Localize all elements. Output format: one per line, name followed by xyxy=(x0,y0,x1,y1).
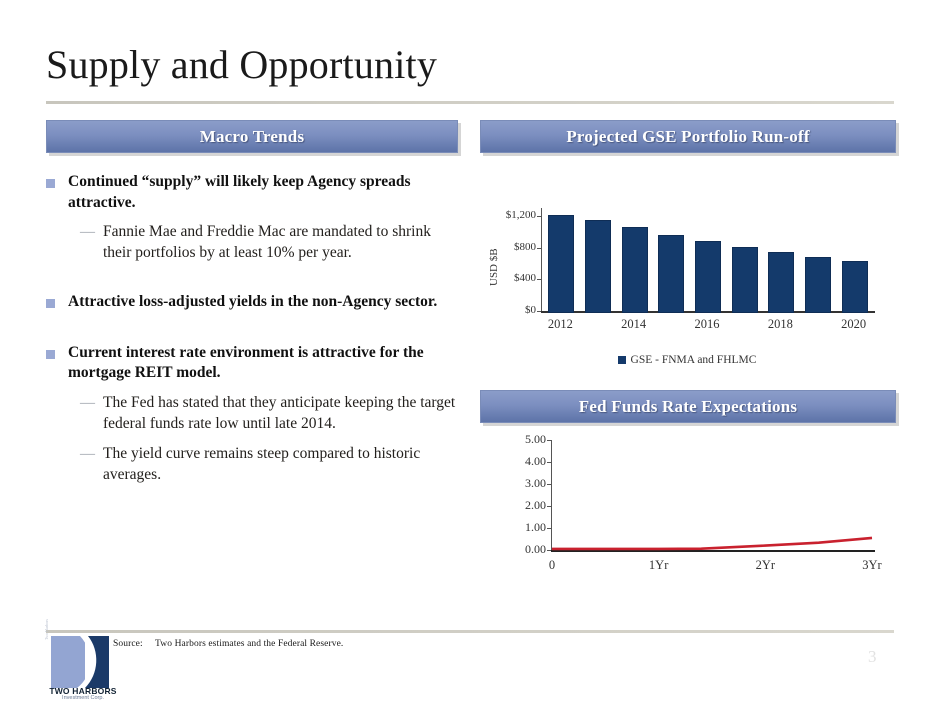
page-title: Supply and Opportunity xyxy=(46,44,437,86)
bar-chart-x-tick-label: 2012 xyxy=(535,317,585,332)
logo-subtitle: Investment Corp. xyxy=(47,695,119,701)
line-chart-y-tick-label: 5.00 xyxy=(504,432,546,447)
sub-bullet-item: — The yield curve remains steep compared… xyxy=(80,444,466,486)
bar-chart-y-axis-line xyxy=(541,208,542,311)
line-chart-y-tick-label: 3.00 xyxy=(504,476,546,491)
line-chart-x-tick-label: 0 xyxy=(527,558,577,573)
sub-bullet-text: The Fed has stated that they anticipate … xyxy=(103,393,463,435)
bar-chart-legend: GSE - FNMA and FHLMC xyxy=(480,354,894,366)
bar-chart-y-tick-label: $1,200 xyxy=(492,209,536,221)
bar-chart-y-tick-label: $400 xyxy=(492,272,536,284)
logo-side-tag: Two Harbors xyxy=(44,619,49,640)
gse-runoff-bar-chart: USD $B $0$400$800$1,200 2012201420162018… xyxy=(480,196,894,366)
title-divider xyxy=(46,101,894,104)
macro-trends-bullet-list: Continued “supply” will likely keep Agen… xyxy=(46,172,466,506)
line-chart-x-axis-line xyxy=(551,550,875,552)
bullet-square-icon xyxy=(46,179,55,188)
line-chart-x-tick-label: 2Yr xyxy=(740,558,790,573)
sub-bullet-item: — The Fed has stated that they anticipat… xyxy=(80,393,466,435)
line-chart-y-tick-label: 0.00 xyxy=(504,542,546,557)
bullet-text: Attractive loss-adjusted yields in the n… xyxy=(68,292,437,313)
bar xyxy=(695,241,721,313)
bar xyxy=(548,215,574,313)
panel-header-fed-funds-label: Fed Funds Rate Expectations xyxy=(579,397,797,417)
dash-icon: — xyxy=(80,222,95,264)
bullet-group: Attractive loss-adjusted yields in the n… xyxy=(46,292,466,313)
bullet-square-icon xyxy=(46,350,55,359)
line-chart-y-tick-label: 4.00 xyxy=(504,454,546,469)
sub-bullet-text: The yield curve remains steep compared t… xyxy=(103,444,463,486)
line-chart-x-tick-label: 3Yr xyxy=(847,558,897,573)
panel-header-macro-trends-label: Macro Trends xyxy=(200,127,305,147)
bar xyxy=(622,227,648,313)
footer-divider xyxy=(46,630,894,633)
bullet-group: Continued “supply” will likely keep Agen… xyxy=(46,172,466,264)
dash-icon: — xyxy=(80,444,95,486)
bullet-text: Continued “supply” will likely keep Agen… xyxy=(68,172,453,213)
bullet-item: Continued “supply” will likely keep Agen… xyxy=(46,172,466,213)
sub-bullet-item: — Fannie Mae and Freddie Mac are mandate… xyxy=(80,222,466,264)
bar-chart-x-tick-label: 2016 xyxy=(682,317,732,332)
legend-label: GSE - FNMA and FHLMC xyxy=(631,354,757,366)
panel-header-gse-runoff: Projected GSE Portfolio Run-off xyxy=(480,120,896,153)
fed-funds-line-chart: 0.001.002.003.004.005.00 01Yr2Yr3Yr xyxy=(480,432,894,592)
bullet-square-icon xyxy=(46,299,55,308)
page-number: 3 xyxy=(868,647,877,667)
dash-icon: — xyxy=(80,393,95,435)
bar-chart-x-tick-label: 2020 xyxy=(829,317,879,332)
fed-funds-rate-line xyxy=(552,440,872,550)
line-chart-y-tick-label: 1.00 xyxy=(504,520,546,535)
bar xyxy=(732,247,758,313)
panel-header-fed-funds: Fed Funds Rate Expectations xyxy=(480,390,896,423)
bar xyxy=(585,220,611,313)
source-text: Two Harbors estimates and the Federal Re… xyxy=(155,639,343,649)
line-chart-y-tick-label: 2.00 xyxy=(504,498,546,513)
panel-header-gse-runoff-label: Projected GSE Portfolio Run-off xyxy=(566,127,809,147)
bullet-text: Current interest rate environment is att… xyxy=(68,343,453,384)
bar-chart-plot-area xyxy=(542,208,872,311)
legend-swatch-icon xyxy=(618,356,626,364)
bullet-item: Attractive loss-adjusted yields in the n… xyxy=(46,292,466,313)
sub-bullet-text: Fannie Mae and Freddie Mac are mandated … xyxy=(103,222,463,264)
source-label: Source: xyxy=(113,639,143,649)
bar xyxy=(768,252,794,313)
bar-chart-y-tick-label: $800 xyxy=(492,241,536,253)
bullet-group: Current interest rate environment is att… xyxy=(46,343,466,486)
panel-header-macro-trends: Macro Trends xyxy=(46,120,458,153)
bar-chart-x-tick-label: 2018 xyxy=(755,317,805,332)
bar-chart-y-tick-label: $0 xyxy=(492,304,536,316)
bar xyxy=(805,257,831,313)
line-chart-plot-area xyxy=(552,440,872,550)
bullet-item: Current interest rate environment is att… xyxy=(46,343,466,384)
source-note: Source: Two Harbors estimates and the Fe… xyxy=(113,639,343,649)
bar xyxy=(842,261,868,313)
line-chart-x-tick-label: 1Yr xyxy=(634,558,684,573)
bar-chart-x-tick-label: 2014 xyxy=(609,317,659,332)
bar xyxy=(658,235,684,313)
slide: Supply and Opportunity Macro Trends Proj… xyxy=(0,0,940,705)
